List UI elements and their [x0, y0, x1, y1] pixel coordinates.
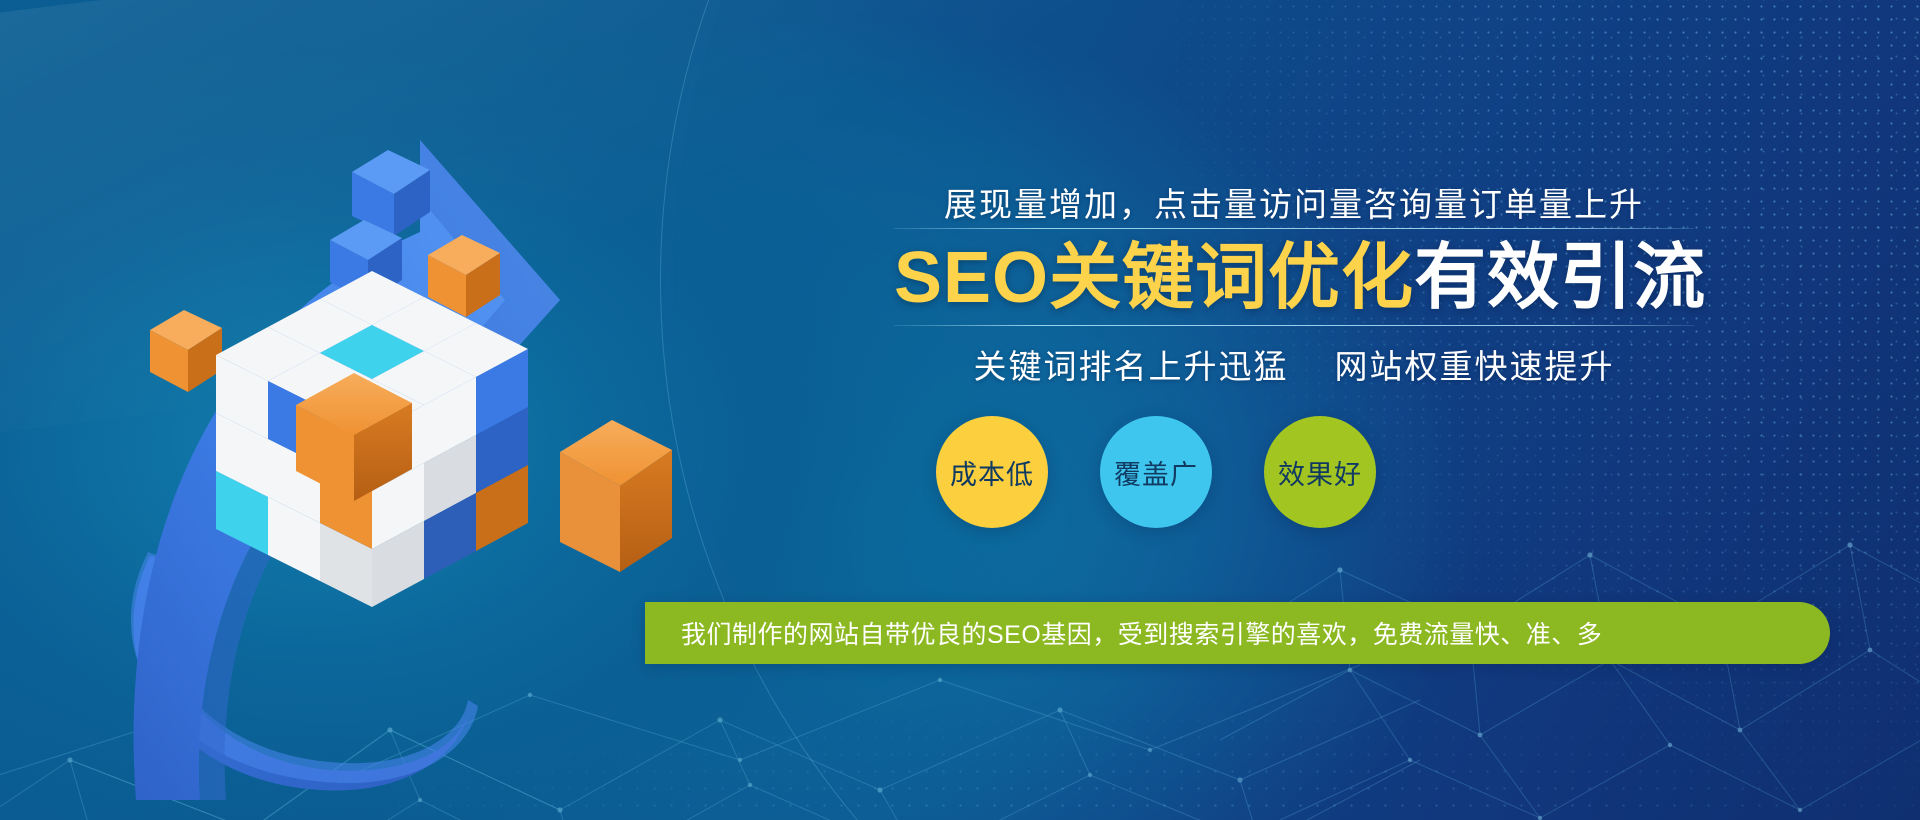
footer-pill: 我们制作的网站自带优良的SEO基因，受到搜索引擎的喜欢，免费流量快、准、多 [645, 602, 1830, 664]
page-title: SEO关键词优化有效引流 [894, 232, 1694, 324]
badge-wide-coverage[interactable]: 覆盖广 [1100, 416, 1212, 528]
subline-right: 网站权重快速提升 [1335, 348, 1615, 385]
feature-badges: 成本低 覆盖广 效果好 [936, 412, 1636, 532]
badge-good-results[interactable]: 效果好 [1264, 416, 1376, 528]
footer-pill-text: 我们制作的网站自带优良的SEO基因，受到搜索引擎的喜欢，免费流量快、准、多 [681, 615, 1602, 651]
hero-illustration [0, 0, 900, 820]
floating-orange-cube-icon [560, 420, 672, 572]
headline-highlight: SEO关键词优化 [894, 238, 1414, 318]
subline-left: 关键词排名上升迅猛 [974, 348, 1289, 385]
divider-bottom [894, 325, 1694, 326]
divider-top [894, 228, 1694, 229]
tagline: 展现量增加，点击量访问量咨询量订单量上升 [894, 178, 1694, 226]
subline: 关键词排名上升迅猛网站权重快速提升 [894, 340, 1694, 388]
headline-rest: 有效引流 [1414, 238, 1706, 318]
text-content: 展现量增加，点击量访问量咨询量订单量上升 SEO关键词优化有效引流 关键词排名上… [880, 0, 1920, 820]
seo-promo-banner: 展现量增加，点击量访问量咨询量订单量上升 SEO关键词优化有效引流 关键词排名上… [0, 0, 1920, 820]
badge-low-cost[interactable]: 成本低 [936, 416, 1048, 528]
